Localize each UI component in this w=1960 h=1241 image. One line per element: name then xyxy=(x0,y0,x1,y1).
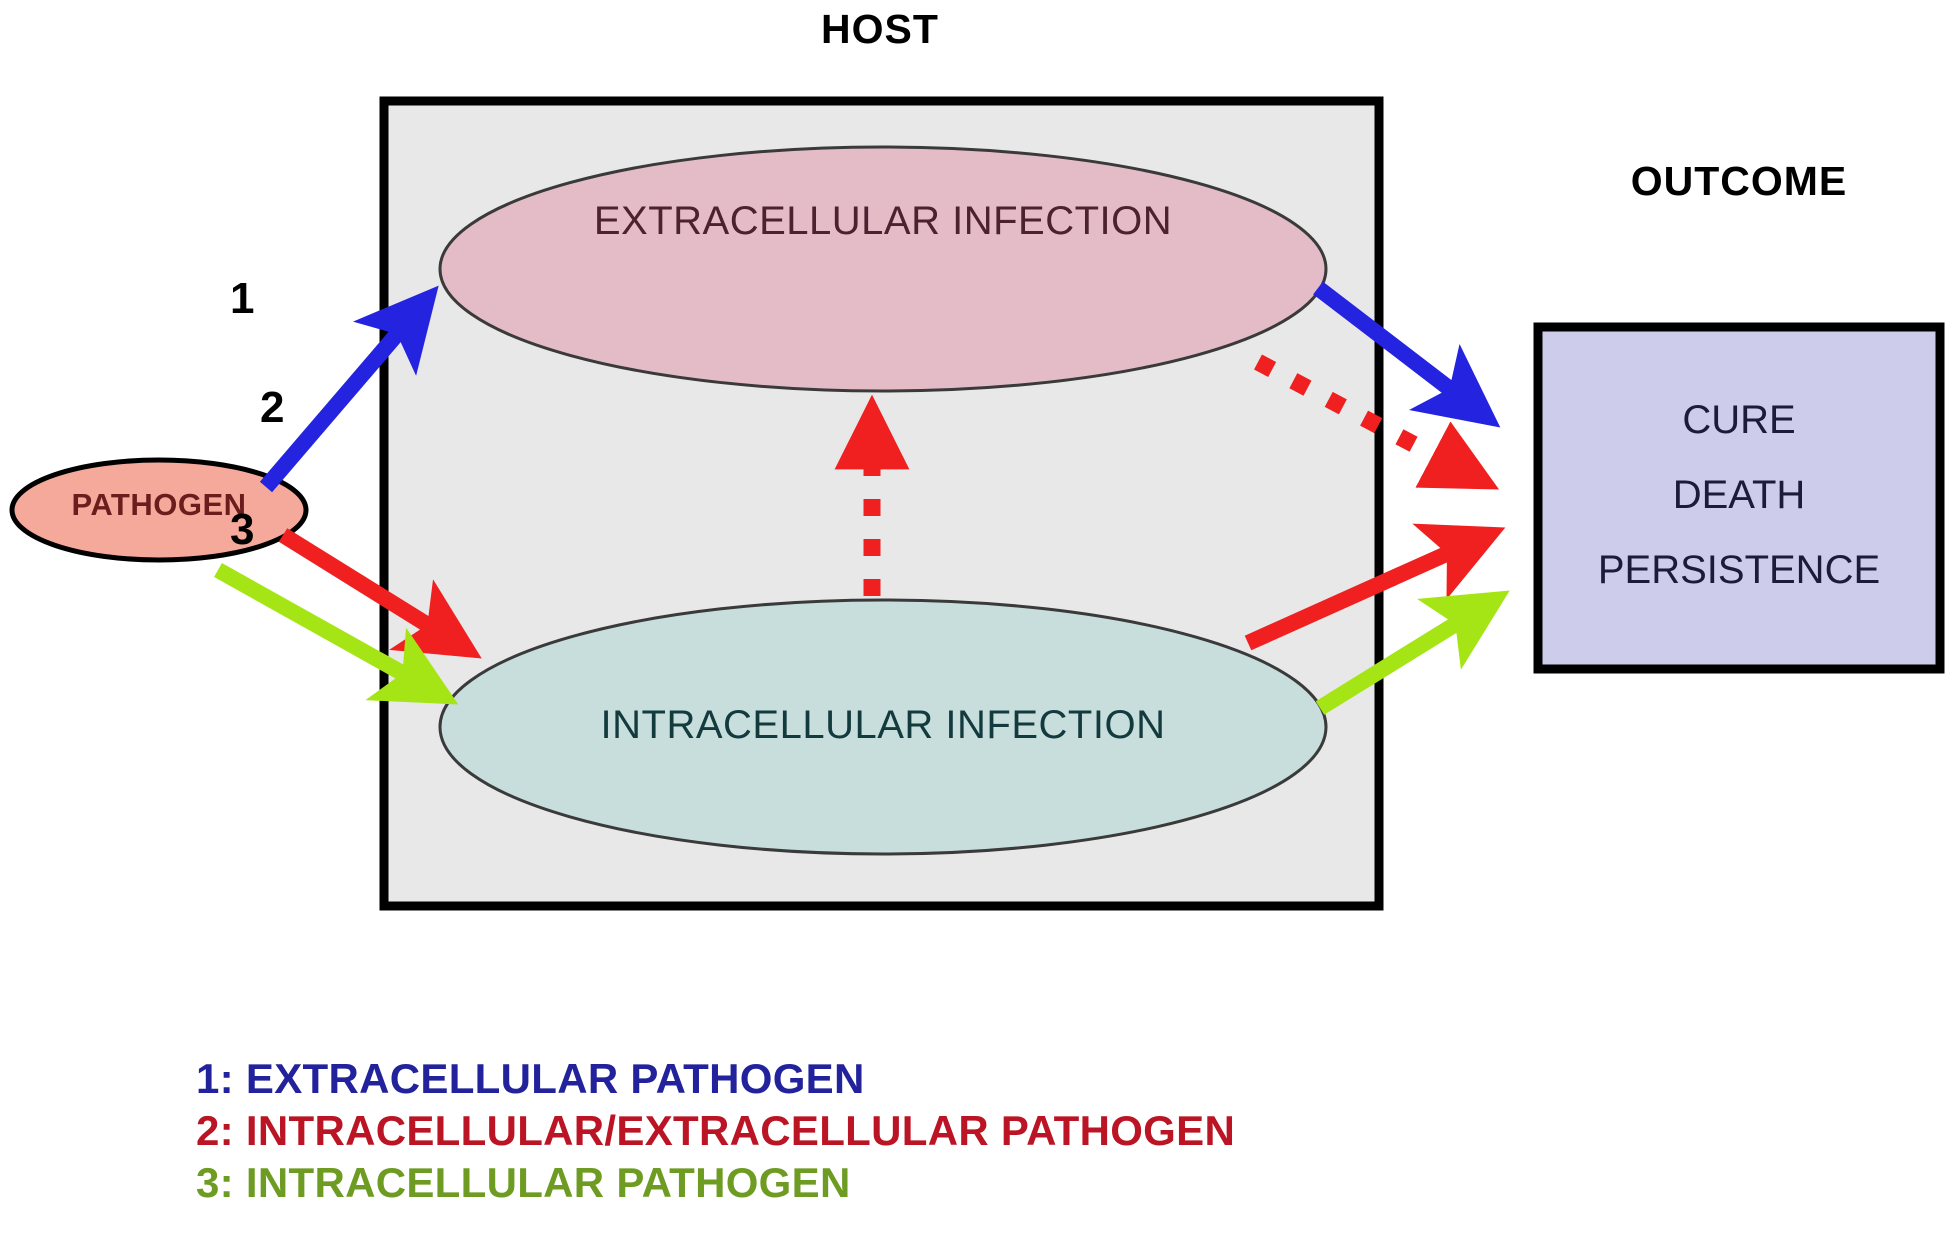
outcome-item-death: DEATH xyxy=(1534,473,1944,518)
diagram-canvas: HOST OUTCOME PATHOGEN EXTRACELLULAR INFE… xyxy=(0,0,1960,1241)
route-number-3: 3 xyxy=(230,505,254,555)
legend: 1: EXTRACELLULAR PATHOGEN 2: INTRACELLUL… xyxy=(196,1053,1235,1209)
outcome-item-persistence: PERSISTENCE xyxy=(1534,548,1944,593)
outcome-item-cure: CURE xyxy=(1534,398,1944,443)
pathogen-node[interactable] xyxy=(12,460,306,560)
route-number-2: 2 xyxy=(260,383,284,433)
route-number-1: 1 xyxy=(230,274,254,324)
intracellular-infection-node[interactable] xyxy=(440,600,1326,854)
legend-row-intracellular-pathogen: 3: INTRACELLULAR PATHOGEN xyxy=(196,1157,1235,1209)
legend-row-intracellular-extracellular-pathogen: 2: INTRACELLULAR/EXTRACELLULAR PATHOGEN xyxy=(196,1105,1235,1157)
extracellular-infection-node[interactable] xyxy=(440,147,1326,391)
legend-row-extracellular-pathogen: 1: EXTRACELLULAR PATHOGEN xyxy=(196,1053,1235,1105)
